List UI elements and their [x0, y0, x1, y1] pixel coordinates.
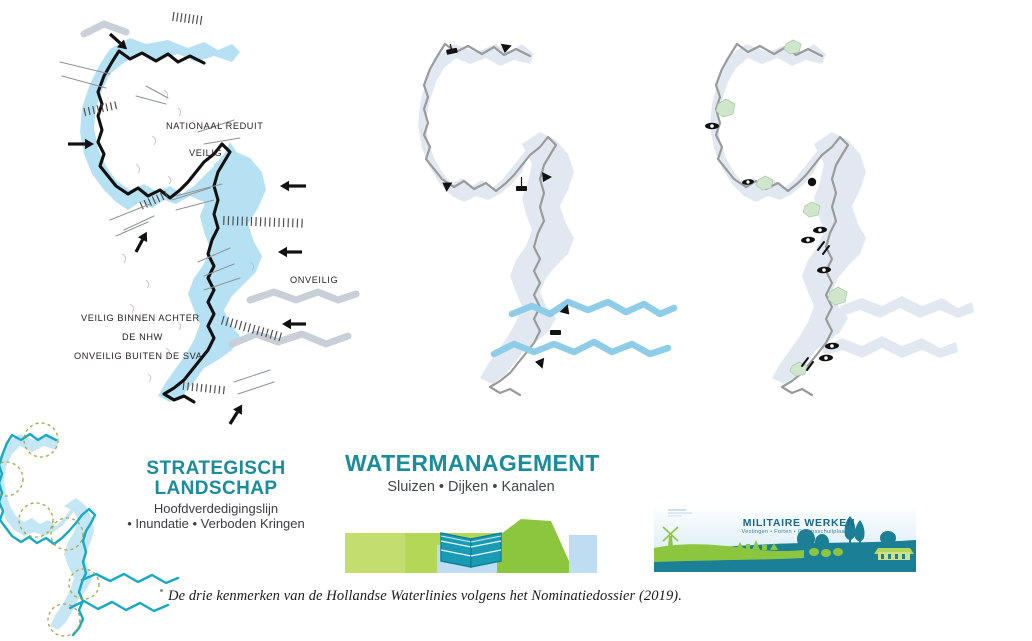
legend-title-line2: LANDSCHAP — [155, 478, 278, 499]
legend-title: WATERMANAGEMENT — [345, 452, 597, 476]
legend-title: STRATEGISCH LANDSCHAP — [116, 459, 316, 499]
organisation-logo — [668, 509, 694, 520]
legend-subtitle: Sluizen • Dijken • Kanalen — [345, 479, 597, 497]
watermanagement-illustration — [345, 505, 597, 573]
map-militaire-werken — [690, 14, 990, 414]
legend-watermanagement: WATERMANAGEMENT Sluizen • Dijken • Kanal… — [345, 452, 597, 497]
map-label: VEILIG BINNEN ACHTER — [81, 313, 200, 323]
map-verboden-kringen — [0, 424, 184, 641]
legend-title-line1: STRATEGISCH — [146, 458, 285, 479]
figure-canvas: NATIONAAL REDUIT VEILIG ONVEILIG VEILIG … — [0, 0, 1032, 641]
map-label: DE NHW — [122, 332, 163, 342]
map-label: NATIONAAL REDUIT — [166, 121, 263, 131]
legend-sub-line1: Hoofdverdedigingslijn — [154, 501, 278, 516]
lock-gate-right — [471, 533, 501, 567]
legend-sub-line2: • Inundatie • Verboden Kringen — [127, 516, 305, 531]
fort-building-icon — [874, 548, 914, 560]
legend-subtitle: Hoofdverdedigingslijn • Inundatie • Verb… — [116, 501, 316, 533]
caption-bullet — [160, 589, 163, 592]
inundation-halo — [710, 44, 974, 384]
map-label: ONVEILIG — [290, 275, 338, 285]
bush-silhouettes — [809, 548, 843, 557]
lock-gate-left — [441, 533, 471, 567]
map-strategic-landscape: NATIONAAL REDUIT VEILIG ONVEILIG VEILIG … — [18, 4, 358, 424]
figure-caption: De drie kenmerken van de Hollandse Water… — [168, 588, 682, 605]
map-label: VEILIG — [189, 148, 222, 158]
map-watermanagement — [398, 14, 688, 414]
militaire-werken-illustration: MILITAIRE WERKEN Vestingen • Forten • Gr… — [654, 504, 916, 572]
legend-strategic-landscape: STRATEGISCH LANDSCHAP Hoofdverdedigingsl… — [116, 459, 316, 532]
map-label: ONVEILIG BUITEN DE SVA — [74, 351, 203, 361]
